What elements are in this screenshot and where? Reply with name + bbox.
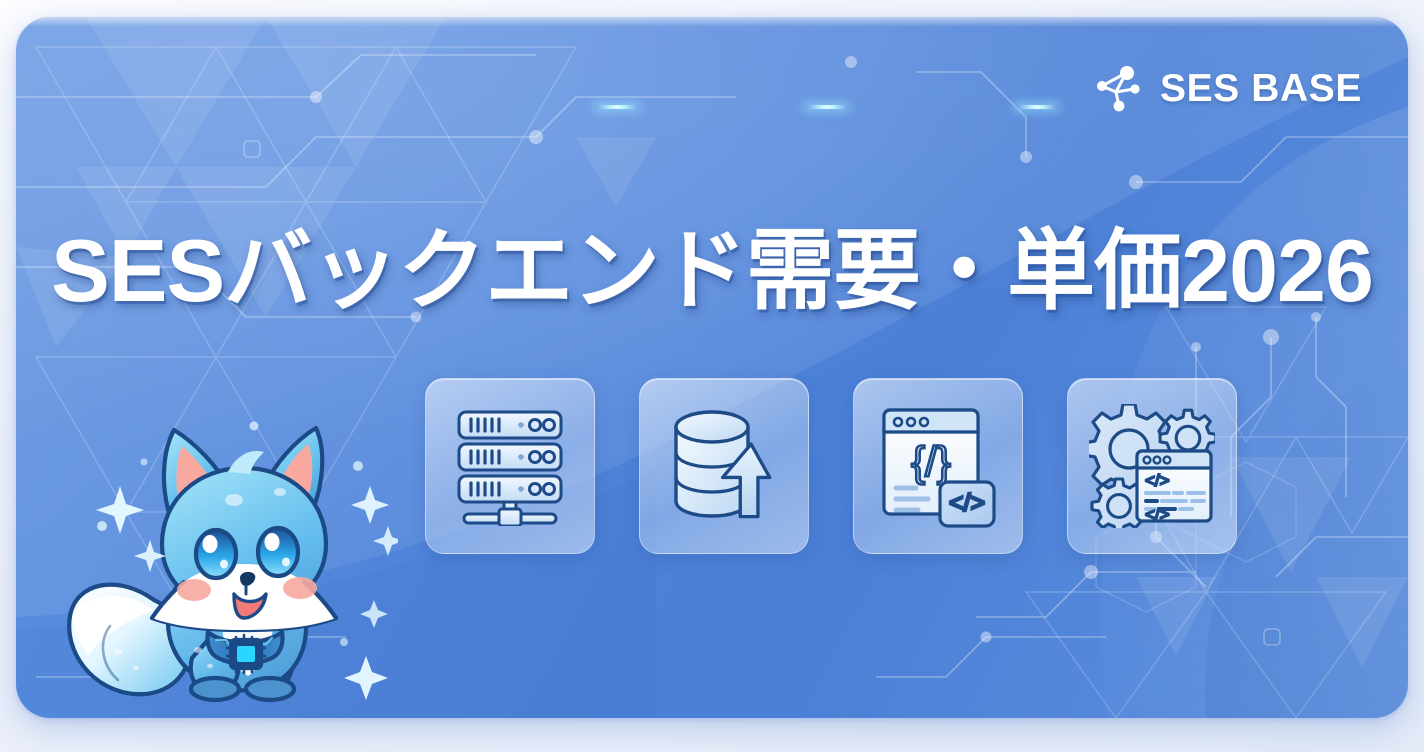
server-rack-icon — [451, 406, 569, 526]
card-connector-glow — [805, 105, 849, 109]
icon-card-server-rack[interactable] — [425, 378, 595, 554]
icon-card-code-window[interactable]: {/} </> — [853, 378, 1023, 554]
code-tag-glyph-bottom: </> — [1145, 505, 1170, 524]
panel-top-sheen — [16, 17, 1408, 27]
database-upload-icon — [666, 405, 782, 527]
icon-card-database-upload[interactable] — [639, 378, 809, 554]
banner-panel: SES BASE SESバックエンド需要・単価2026 — [16, 17, 1408, 718]
code-window-icon: {/} </> — [878, 404, 998, 528]
code-tag-glyph: </> — [949, 489, 985, 517]
brand-logo[interactable]: SES BASE — [1094, 62, 1362, 114]
card-connector-glow — [595, 105, 639, 109]
card-connector-glow — [1015, 105, 1059, 109]
banner-frame: SES BASE SESバックエンド需要・単価2026 — [0, 0, 1424, 752]
code-tag-glyph-top: </> — [1145, 471, 1170, 490]
fox-mascot — [58, 404, 398, 704]
brand-logo-text: SES BASE — [1160, 69, 1362, 108]
gears-code-icon: </> </> — [1089, 404, 1215, 528]
blue-fox-mascot-icon — [58, 404, 398, 704]
page-title: SESバックエンド需要・単価2026 — [16, 222, 1408, 321]
icon-card-gears-code[interactable]: </> </> — [1067, 378, 1237, 554]
network-nodes-icon — [1094, 62, 1146, 114]
code-braces-glyph: {/} — [911, 438, 951, 485]
icon-card-row: {/} </> — [425, 376, 1237, 556]
